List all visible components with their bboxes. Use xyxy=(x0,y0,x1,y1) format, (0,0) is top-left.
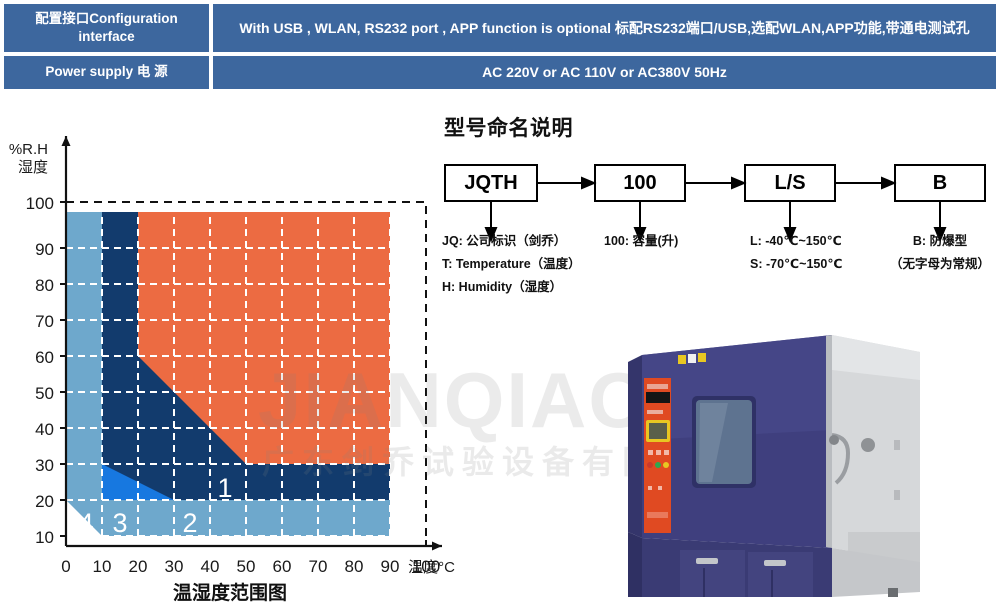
legend-line: （无字母为常规） xyxy=(878,253,1000,276)
svg-text:70: 70 xyxy=(35,312,54,331)
svg-text:60: 60 xyxy=(35,348,54,367)
zone-label-1: 1 xyxy=(217,473,232,503)
svg-text:20: 20 xyxy=(129,557,148,576)
legend-line: B: 防爆型 xyxy=(878,230,1000,253)
temperature-humidity-chart: 100 90 80 70 60 50 40 30 20 10 0 10 20 3… xyxy=(0,100,460,597)
model-naming-panel: 型号命名说明 JQTH 100 L/S B xyxy=(438,112,1000,327)
legend-line: T: Temperature（温度） xyxy=(442,253,581,276)
base-door-right-handle xyxy=(764,560,786,566)
spec-value-power-supply: AC 220V or AC 110V or AC380V 50Hz xyxy=(213,56,996,89)
svg-text:50: 50 xyxy=(237,557,256,576)
zone-label-4: 4 xyxy=(78,508,93,538)
control-panel-display-bar xyxy=(646,392,670,403)
legend-line: H: Humidity（湿度） xyxy=(442,276,581,299)
spec-value-configuration-interface: With USB , WLAN, RS232 port , APP functi… xyxy=(213,4,996,52)
zone-label-3: 3 xyxy=(112,508,127,538)
svg-text:40: 40 xyxy=(201,557,220,576)
naming-legend-temprange: L: -40℃~150℃ S: -70℃~150℃ xyxy=(750,230,842,276)
spec-label-power-supply: Power supply 电 源 xyxy=(4,56,209,89)
table-row: Power supply 电 源 AC 220V or AC 110V or A… xyxy=(4,56,996,89)
svg-text:60: 60 xyxy=(273,557,292,576)
legend-line: L: -40℃~150℃ xyxy=(750,230,842,253)
controller-screen xyxy=(649,423,667,439)
svg-text:70: 70 xyxy=(309,557,328,576)
base-door-right xyxy=(748,552,813,597)
svg-text:90: 90 xyxy=(381,557,400,576)
svg-text:80: 80 xyxy=(345,557,364,576)
naming-legend-option: B: 防爆型 （无字母为常规） xyxy=(878,230,1000,276)
base-door-left-handle xyxy=(696,558,718,564)
legend-line: JQ: 公司标识（剑乔） xyxy=(442,230,581,253)
control-panel-bottom-strip xyxy=(647,512,668,518)
svg-text:100: 100 xyxy=(26,194,54,213)
control-panel-text-strip xyxy=(647,384,668,389)
x-axis-labels: 0 10 20 30 40 50 60 70 80 90 100 xyxy=(61,557,440,576)
naming-legend-capacity: 100: 容量(升) xyxy=(604,230,678,253)
spec-label-configuration-interface: 配置接口Configuration interface xyxy=(4,4,209,52)
chart-caption: 温湿度范围图 xyxy=(100,578,360,605)
legend-line: 100: 容量(升) xyxy=(604,230,678,253)
chamber-base-left-side xyxy=(628,532,642,597)
svg-text:90: 90 xyxy=(35,240,54,259)
svg-text:80: 80 xyxy=(35,276,54,295)
chamber-left-side xyxy=(628,355,642,538)
naming-section-title: 型号命名说明 xyxy=(444,112,1000,142)
svg-text:50: 50 xyxy=(35,384,54,403)
chart-svg: 100 90 80 70 60 50 40 30 20 10 0 10 20 3… xyxy=(0,100,460,597)
svg-text:30: 30 xyxy=(35,456,54,475)
zone-label-2: 2 xyxy=(182,508,197,538)
product-photo xyxy=(600,300,1000,597)
y-axis-labels: 100 90 80 70 60 50 40 30 20 10 xyxy=(26,194,54,547)
svg-text:0: 0 xyxy=(61,557,70,576)
table-row: 配置接口Configuration interface With USB , W… xyxy=(4,4,996,52)
chamber-side-latch-lower xyxy=(894,490,900,500)
svg-text:20: 20 xyxy=(35,492,54,511)
legend-line: S: -70℃~150℃ xyxy=(750,253,842,276)
svg-text:10: 10 xyxy=(35,528,54,547)
base-door-left xyxy=(680,550,745,597)
svg-text:40: 40 xyxy=(35,420,54,439)
svg-text:30: 30 xyxy=(165,557,184,576)
naming-legend-prefix: JQ: 公司标识（剑乔） T: Temperature（温度） H: Humid… xyxy=(442,230,581,299)
product-photo-illustration xyxy=(600,300,1000,597)
naming-flow: JQTH 100 L/S B xyxy=(438,164,1000,204)
chamber-side-latch-upper xyxy=(894,440,900,450)
y-axis-title-line2: 湿度 xyxy=(18,159,48,176)
chamber-handle-pivot xyxy=(829,435,839,445)
x-axis-title: 温度°C xyxy=(408,559,455,576)
control-panel-label xyxy=(647,410,663,414)
chamber-caster xyxy=(888,588,898,597)
spec-table: 配置接口Configuration interface With USB , W… xyxy=(4,4,996,93)
y-axis-title-line1: %R.H xyxy=(9,141,48,158)
svg-text:10: 10 xyxy=(93,557,112,576)
chamber-side-port xyxy=(861,438,875,452)
